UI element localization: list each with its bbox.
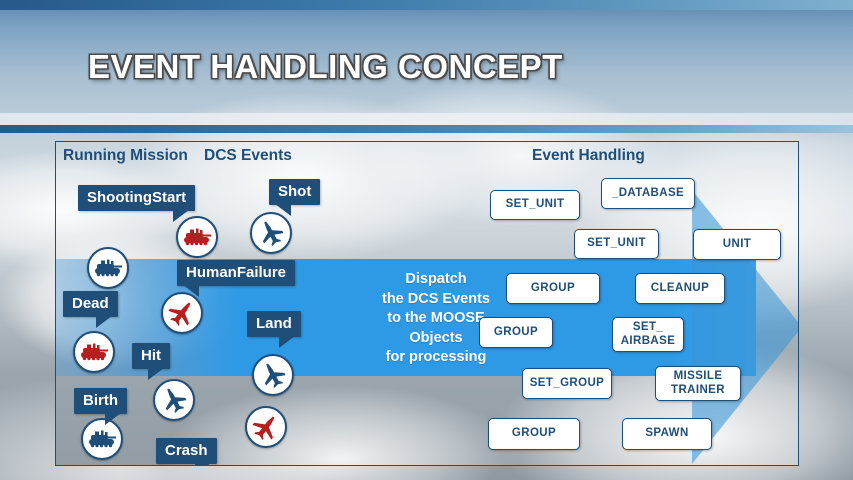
jet-hit-navy-icon <box>153 379 195 421</box>
bubble-tail <box>173 210 189 222</box>
moose-object-set-airbase[interactable]: SET_AIRBASE <box>612 317 684 352</box>
event-label-birth[interactable]: Birth <box>74 388 127 414</box>
moose-object-label: SET_UNIT <box>506 198 565 212</box>
moose-object-cleanup[interactable]: CLEANUP <box>635 273 725 304</box>
mid-blue-band <box>0 125 853 133</box>
jet-red-icon <box>161 292 203 334</box>
dispatch-line-4: for processing <box>356 348 516 368</box>
event-label-text: Crash <box>165 442 208 459</box>
bubble-tail <box>279 336 295 348</box>
diagram-frame: Dispatchthe DCS Eventsto the MOOSEObject… <box>55 141 799 466</box>
jet-land-navy-icon <box>252 354 294 396</box>
page-title: EVENT HANDLING CONCEPT <box>88 48 563 86</box>
moose-object-label: SET_AIRBASE <box>621 321 676 348</box>
moose-object-set-unit-2[interactable]: SET_UNIT <box>574 229 659 259</box>
moose-object-label: SET_UNIT <box>587 237 646 251</box>
bubble-tail <box>105 413 121 425</box>
bubble-tail <box>96 316 112 328</box>
tank-navy-icon <box>87 247 129 289</box>
slide-canvas: EVENT HANDLING CONCEPT Dispatchthe DCS E… <box>0 0 853 480</box>
section-header-running-mission: Running Mission <box>63 147 188 165</box>
jet-navy-icon <box>250 212 292 254</box>
mid-light-band <box>0 113 853 125</box>
moose-object-label: CLEANUP <box>651 282 709 296</box>
moose-object-label: SPAWN <box>645 427 688 441</box>
moose-object-label: _DATABASE <box>612 187 684 201</box>
moose-object-label: GROUP <box>512 427 556 441</box>
event-label-land[interactable]: Land <box>247 311 301 337</box>
event-label-text: HumanFailure <box>186 264 286 281</box>
bubble-tail <box>195 463 211 466</box>
tank-red-2-icon <box>73 331 115 373</box>
moose-object-label: GROUP <box>494 326 538 340</box>
moose-object-set-unit-1[interactable]: SET_UNIT <box>490 190 580 220</box>
event-label-text: Hit <box>141 347 161 364</box>
moose-object-set-group[interactable]: SET_GROUP <box>522 368 612 399</box>
moose-object-missile-trainer[interactable]: MISSILETRAINER <box>655 366 741 401</box>
event-label-text: ShootingStart <box>87 189 186 206</box>
event-label-hit[interactable]: Hit <box>132 343 170 369</box>
bubble-tail <box>183 285 199 297</box>
bubble-tail <box>275 204 291 216</box>
event-label-shooting-start[interactable]: ShootingStart <box>78 185 195 211</box>
moose-object-label: MISSILETRAINER <box>671 370 725 397</box>
jet-crash-red-icon <box>245 406 287 448</box>
moose-object-unit[interactable]: UNIT <box>693 229 781 260</box>
section-header-dcs-events: DCS Events <box>204 147 292 165</box>
event-label-shot[interactable]: Shot <box>269 179 320 205</box>
moose-object-label: UNIT <box>723 238 751 252</box>
dispatch-line-0: Dispatch <box>356 270 516 290</box>
section-header-event-handling: Event Handling <box>532 147 645 165</box>
moose-object-group-3[interactable]: GROUP <box>488 418 580 450</box>
moose-object-label: GROUP <box>531 282 575 296</box>
moose-object-spawn[interactable]: SPAWN <box>622 418 712 450</box>
top-accent-band <box>0 0 853 10</box>
moose-object-group-2[interactable]: GROUP <box>479 317 553 348</box>
event-label-text: Dead <box>72 295 109 312</box>
event-label-text: Birth <box>83 392 118 409</box>
event-label-text: Shot <box>278 183 311 200</box>
event-label-human-failure[interactable]: HumanFailure <box>177 260 295 286</box>
tank-red-icon <box>176 216 218 258</box>
bubble-tail <box>148 368 164 380</box>
event-label-dead[interactable]: Dead <box>63 291 118 317</box>
moose-object-database[interactable]: _DATABASE <box>601 178 695 209</box>
dispatch-line-1: the DCS Events <box>356 290 516 310</box>
event-label-text: Land <box>256 315 292 332</box>
event-label-crash[interactable]: Crash <box>156 438 217 464</box>
moose-object-group-1[interactable]: GROUP <box>506 273 600 304</box>
moose-object-label: SET_GROUP <box>530 377 605 391</box>
